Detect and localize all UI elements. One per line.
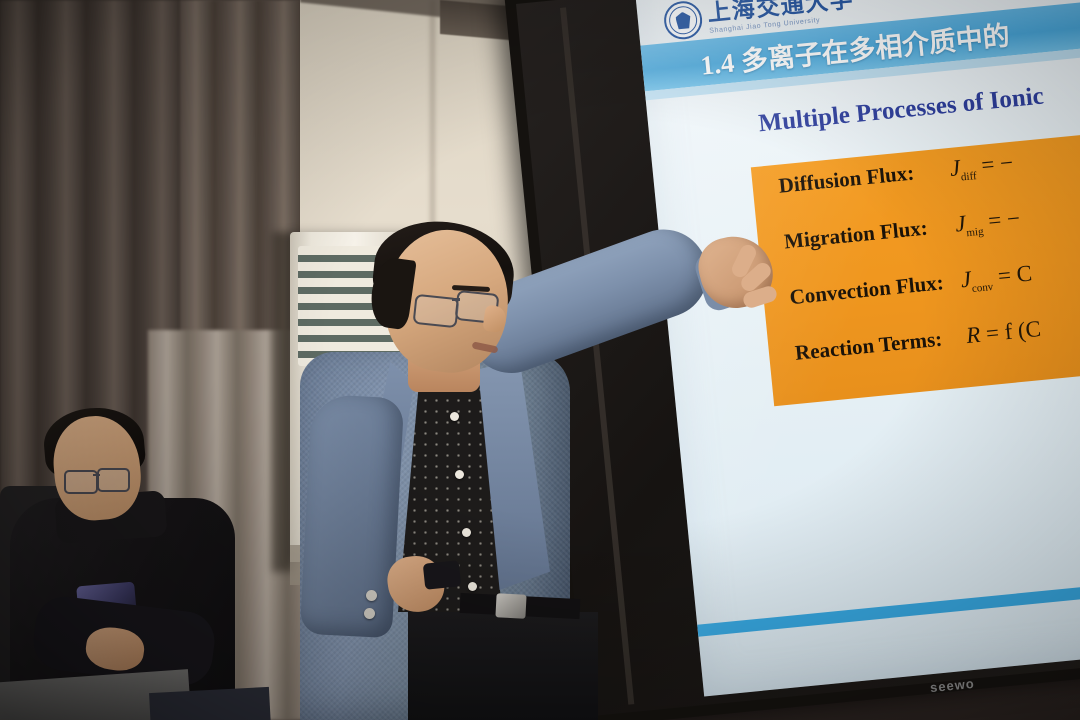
presenter-jacket-button <box>364 608 375 619</box>
equation-subscript: conv <box>971 281 993 295</box>
equation-subscript: diff <box>960 170 977 183</box>
equation-subscript: mig <box>966 226 984 240</box>
equation-symbol: J <box>949 155 962 181</box>
equation-expression: Jdiff = − <box>949 150 1015 185</box>
display-screen[interactable]: 上海交通大学 Shanghai Jiao Tong University 1.4… <box>632 0 1080 696</box>
presenter-jacket-button <box>366 590 377 601</box>
slide-bottom-bar <box>697 574 1080 637</box>
presenter-glasses-bridge <box>452 298 460 301</box>
equation-expression: Jconv = C <box>960 261 1034 296</box>
presentation-clicker[interactable] <box>423 560 462 590</box>
equation-expression: Jmig = − <box>954 205 1021 240</box>
slide-subtitle: Multiple Processes of Ionic <box>757 83 1045 139</box>
equation-label: Diffusion Flux: <box>778 157 952 199</box>
presenter-near-arm <box>300 394 404 638</box>
attendee-desk-object <box>149 687 271 720</box>
presenter-trousers <box>408 612 598 720</box>
lecture-photo-scene: 上海交通大学 Shanghai Jiao Tong University 1.4… <box>0 0 1080 720</box>
equation-rhs: = − <box>980 150 1014 178</box>
attendee-glasses-bridge <box>93 474 100 476</box>
equation-rhs: = f (C <box>985 316 1042 346</box>
equation-rhs: = C <box>997 261 1033 289</box>
equation-symbol: R <box>965 322 981 348</box>
equation-subscript <box>981 338 982 350</box>
presentation-slide: 上海交通大学 Shanghai Jiao Tong University 1.4… <box>636 0 1080 637</box>
presenter-belt-buckle <box>495 593 526 619</box>
equation-expression: R = f (C <box>965 316 1042 352</box>
equation-symbol: J <box>960 267 973 293</box>
equation-rhs: = − <box>987 205 1021 233</box>
university-seal-icon <box>662 0 704 41</box>
equation-panel: Diffusion Flux: Jdiff = − Migration Flux… <box>751 124 1080 406</box>
equation-symbol: J <box>954 211 967 237</box>
attendee-glasses-lens-right <box>97 468 130 492</box>
